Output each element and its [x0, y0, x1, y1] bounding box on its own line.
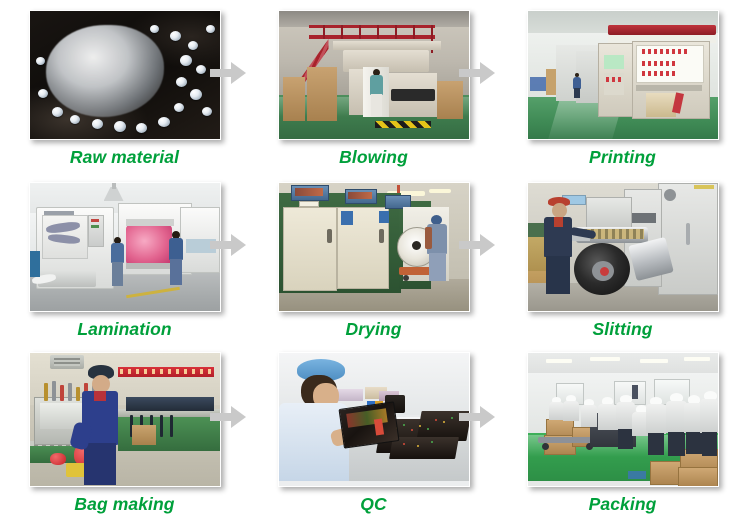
process-row-2: Lamination: [0, 172, 747, 342]
arrow-head: [231, 234, 246, 256]
pellet: [38, 89, 48, 98]
equipment: [632, 385, 638, 399]
arrow-head: [231, 406, 246, 428]
arrow-shaft: [210, 241, 232, 249]
arrow-head: [480, 234, 495, 256]
flow-arrow-icon: [459, 62, 495, 84]
pellet: [206, 25, 215, 33]
upper-console: [586, 197, 632, 229]
process-step-drying[interactable]: Drying: [249, 172, 498, 342]
rail-post: [395, 25, 397, 39]
photo-wrapper: [527, 352, 719, 487]
pellet: [176, 77, 187, 87]
photo-lamination: [29, 182, 221, 312]
photo-wrapper: [29, 182, 221, 312]
roller: [126, 263, 174, 269]
photo-drying: [278, 182, 470, 312]
indicator-light: [612, 77, 615, 82]
photo-wrapper: [29, 10, 221, 140]
control-screen: [604, 55, 624, 69]
pellet: [174, 103, 184, 112]
trolley-wheel: [403, 275, 409, 281]
pellet: [92, 119, 103, 129]
process-row-3: Bag making: [0, 342, 747, 521]
step-label: Lamination: [77, 321, 171, 339]
nip-roller-stand: [349, 69, 363, 115]
step-label: Bag making: [74, 496, 174, 514]
step-label: Raw material: [70, 149, 179, 167]
pellet: [180, 55, 192, 66]
process-step-bag-making[interactable]: Bag making: [0, 342, 249, 521]
photo-wrapper: [278, 10, 470, 140]
process-step-slitting[interactable]: Slitting: [498, 172, 747, 342]
worker-strap: [425, 227, 432, 249]
indicator-light: [91, 219, 99, 222]
pellet: [202, 107, 212, 116]
hub-cap: [600, 267, 609, 276]
photo-raw-material: [29, 10, 221, 140]
step-label: Drying: [345, 321, 401, 339]
oven-door-left: [283, 207, 337, 291]
flow-arrow-icon: [459, 406, 495, 428]
door-handle: [327, 229, 332, 243]
carton: [132, 425, 156, 445]
worker-torso: [370, 75, 383, 95]
ink-deck: [636, 45, 704, 83]
arrow-head: [231, 62, 246, 84]
process-step-packing[interactable]: Packing: [498, 342, 747, 521]
vent-louvers: [54, 358, 80, 366]
step-label: Blowing: [339, 149, 408, 167]
warning-sticker: [694, 185, 714, 189]
material-roll: [646, 93, 676, 117]
process-step-lamination[interactable]: Lamination: [0, 172, 249, 342]
carton-stack: [283, 77, 305, 121]
flow-arrow-icon: [210, 62, 246, 84]
ceiling-light: [429, 189, 451, 193]
blue-pallet: [530, 77, 546, 91]
pellet: [170, 31, 181, 41]
pellet: [114, 121, 126, 132]
red-platform-rail: [309, 35, 435, 39]
step-label: Printing: [589, 149, 656, 167]
equipment-rack: [126, 397, 214, 411]
pellet: [36, 57, 45, 65]
indicator-light: [91, 225, 99, 228]
photo-wrapper: [29, 352, 221, 487]
photo-slitting: [527, 182, 719, 312]
roll-core: [412, 241, 421, 250]
red-platform-rail: [309, 25, 435, 28]
oven-label: [379, 211, 389, 223]
safety-banner-text: [120, 369, 212, 374]
winder-shaft: [391, 89, 435, 101]
pellet: [196, 65, 206, 74]
floor-mat: [628, 471, 646, 479]
process-flow-diagram: Raw material: [0, 0, 747, 521]
carton-stack: [437, 81, 463, 119]
carton-stack: [307, 67, 337, 121]
exhaust-duct: [112, 183, 116, 189]
arrow-shaft: [459, 69, 481, 77]
photo-wrapper: [278, 182, 470, 312]
photo-bag-making: [29, 352, 221, 487]
pellet: [190, 89, 202, 100]
arrow-shaft: [210, 69, 232, 77]
process-step-blowing[interactable]: Blowing: [249, 0, 498, 172]
flow-arrow-icon: [210, 234, 246, 256]
process-row-1: Raw material: [0, 0, 747, 172]
rail-post: [359, 25, 361, 39]
red-canopy: [608, 25, 716, 35]
worker-collar: [554, 217, 563, 227]
arrow-shaft: [459, 241, 481, 249]
pellet: [136, 123, 147, 133]
flow-arrow-icon: [459, 234, 495, 256]
product-sample: [337, 389, 363, 401]
photo-wrapper: [278, 352, 470, 487]
step-label: Packing: [589, 496, 657, 514]
control-display: [295, 188, 323, 196]
photo-wrapper: [527, 182, 719, 312]
arrow-head: [480, 62, 495, 84]
arrow-shaft: [459, 413, 481, 421]
roller: [126, 219, 174, 226]
pouch-accent: [373, 419, 383, 436]
pellet: [52, 107, 63, 117]
rail-post: [413, 25, 415, 39]
process-step-raw-material[interactable]: Raw material: [0, 0, 249, 172]
indicator-light: [606, 77, 609, 82]
photo-qc: [278, 352, 470, 487]
overhead-beam: [333, 41, 441, 50]
cabinet-handle: [686, 223, 690, 245]
control-display: [348, 192, 372, 199]
process-step-printing[interactable]: Printing: [498, 0, 747, 172]
pellet: [150, 25, 159, 33]
carton-foreground: [678, 467, 718, 487]
rail-post: [323, 25, 325, 39]
photo-printing: [527, 10, 719, 140]
pellet: [158, 117, 170, 127]
flow-arrow-icon: [210, 406, 246, 428]
red-product-bag: [50, 453, 66, 465]
arrow-head: [480, 406, 495, 428]
pellet: [70, 115, 80, 124]
oven-label: [341, 211, 353, 225]
printed-film-roll: [126, 225, 172, 265]
photo-wrapper: [527, 10, 719, 140]
step-label: QC: [360, 496, 386, 514]
indicator-light: [618, 77, 621, 82]
web-guide-roller: [636, 85, 702, 91]
door-handle: [379, 229, 384, 243]
fan-grille: [664, 189, 676, 201]
oven-nameplate: [299, 201, 319, 207]
photo-packing: [527, 352, 719, 487]
hazard-marking: [375, 121, 431, 128]
arrow-shaft: [210, 413, 232, 421]
machine-nameplate: [44, 211, 74, 215]
pipe: [397, 185, 400, 193]
photo-blowing: [278, 10, 470, 140]
step-label: Slitting: [592, 321, 652, 339]
worker-collar: [94, 391, 106, 401]
rail-post: [341, 25, 343, 39]
rail-post: [377, 25, 379, 39]
machine-slot: [628, 213, 656, 223]
carton: [546, 69, 556, 95]
worker-legs: [371, 94, 382, 116]
blue-drum: [30, 251, 40, 277]
pellet: [188, 41, 198, 50]
trolley-wheel: [542, 443, 549, 450]
process-step-qc[interactable]: QC: [249, 342, 498, 521]
